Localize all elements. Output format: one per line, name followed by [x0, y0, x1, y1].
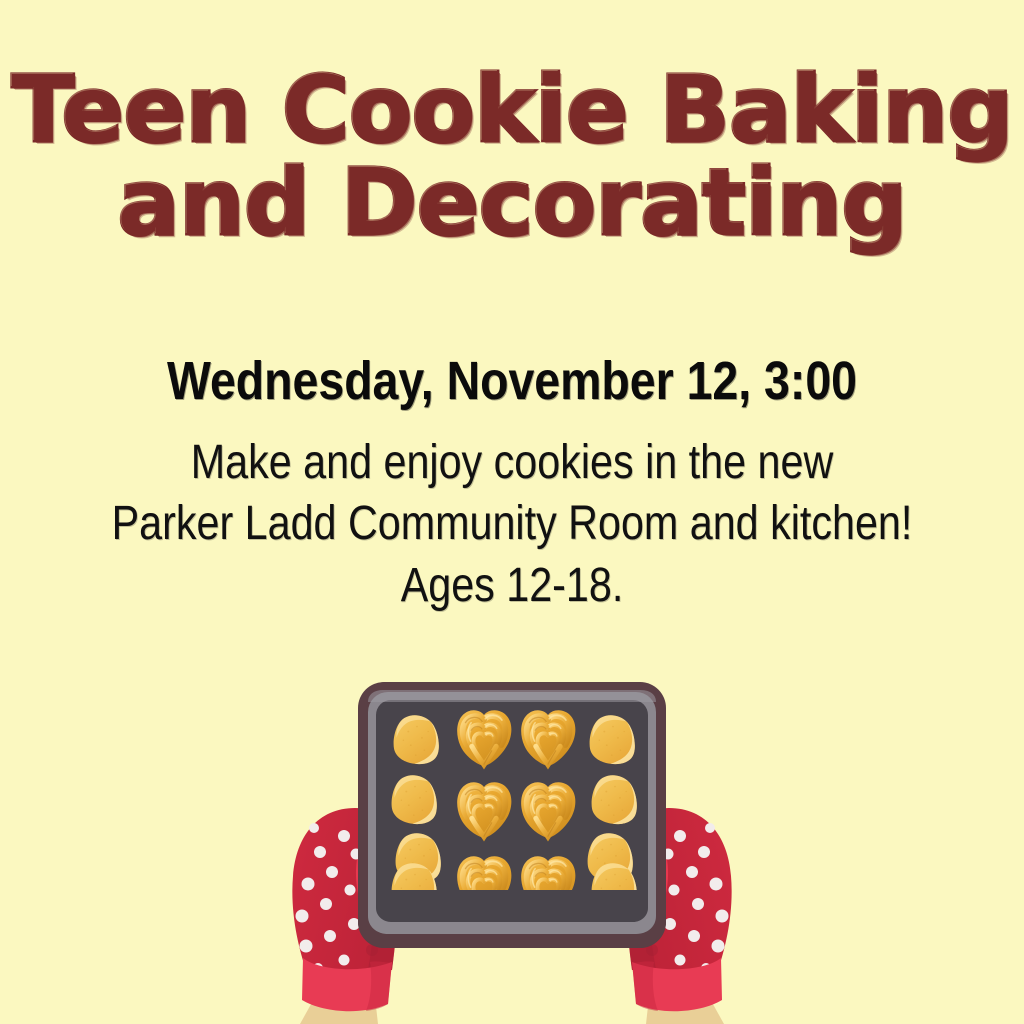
baking-tray [358, 682, 666, 948]
description-line-1: Make and enjoy cookies in the new [72, 432, 953, 493]
event-datetime: Wednesday, November 12, 3:00 [72, 350, 953, 412]
title-line-1: Teen Cookie Baking [0, 66, 1024, 153]
cookie-tray-illustration [0, 640, 1024, 1024]
poster-title: Teen Cookie Baking and Decorating [0, 66, 1024, 247]
description-line-3: Ages 12-18. [72, 555, 953, 616]
description-line-2: Parker Ladd Community Room and kitchen! [72, 493, 953, 554]
title-line-2: and Decorating [0, 159, 1024, 246]
event-description: Make and enjoy cookies in the new Parker… [0, 432, 1024, 616]
poster-canvas: Teen Cookie Baking and Decorating Wednes… [0, 0, 1024, 1024]
